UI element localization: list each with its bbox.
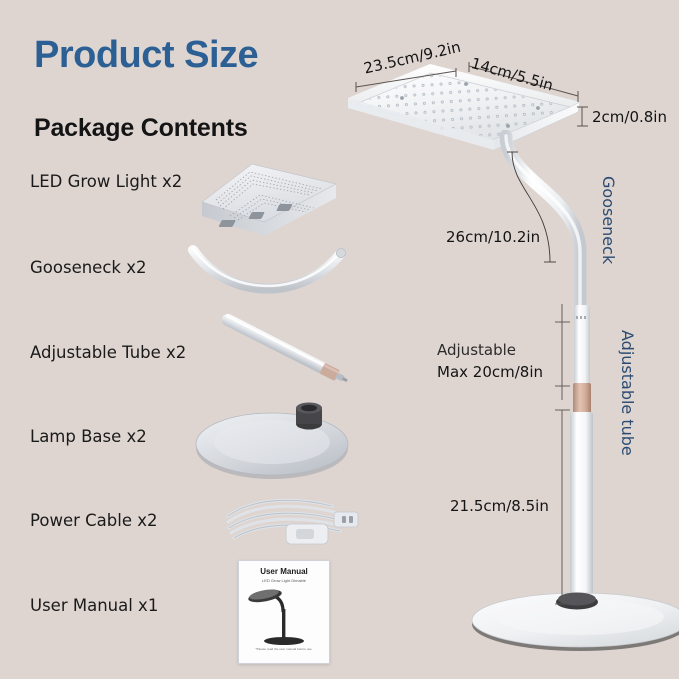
- dimension-adjustable-label: Adjustable: [437, 341, 516, 359]
- part-label-adjustable-tube: Adjustable tube: [618, 330, 637, 456]
- product-size-infographic: Product Size Package Contents LED Grow L…: [0, 0, 679, 679]
- head-height-dimension-line: [576, 104, 592, 130]
- manual-icon: User Manual LED Grow Light Dimable *Plea…: [238, 560, 330, 664]
- section-title-package-contents: Package Contents: [34, 114, 248, 143]
- manual-footer: *Please read the user manual before use.: [239, 647, 329, 651]
- dimension-gooseneck-length: 26cm/10.2in: [446, 228, 540, 246]
- led-panel-icon: [190, 150, 340, 240]
- package-item-label-gooseneck: Gooseneck x2: [30, 258, 146, 277]
- dimension-pole-height: 21.5cm/8.5in: [450, 497, 549, 515]
- package-item-label-power-cable: Power Cable x2: [30, 511, 157, 530]
- gooseneck-icon: [188, 243, 348, 303]
- pole-height-dimension-line: [552, 408, 572, 608]
- lamp-base: [468, 580, 679, 658]
- gooseneck-length-leader: [494, 150, 564, 270]
- adjustable-range-dimension-line: [552, 300, 572, 405]
- dimension-adjustable-max: Max 20cm/8in: [437, 363, 543, 381]
- rose-gold-collar: [573, 383, 591, 415]
- cable-icon: [222, 486, 367, 558]
- package-item-label-user-manual: User Manual x1: [30, 596, 158, 615]
- package-item-label-lamp-base: Lamp Base x2: [30, 427, 147, 446]
- tube-icon: [208, 305, 368, 385]
- package-item-label-led-grow-light: LED Grow Light x2: [30, 172, 182, 191]
- pole-joint-marks: [576, 316, 588, 319]
- lamp-lower-pole: [570, 412, 593, 602]
- part-label-gooseneck: Gooseneck: [599, 176, 618, 264]
- page-title: Product Size: [34, 34, 258, 77]
- manual-title: User Manual: [239, 567, 329, 576]
- package-item-label-adjustable-tube: Adjustable Tube x2: [30, 343, 186, 362]
- base-icon: [192, 388, 357, 483]
- dimension-head-height: 2cm/0.8in: [592, 108, 667, 126]
